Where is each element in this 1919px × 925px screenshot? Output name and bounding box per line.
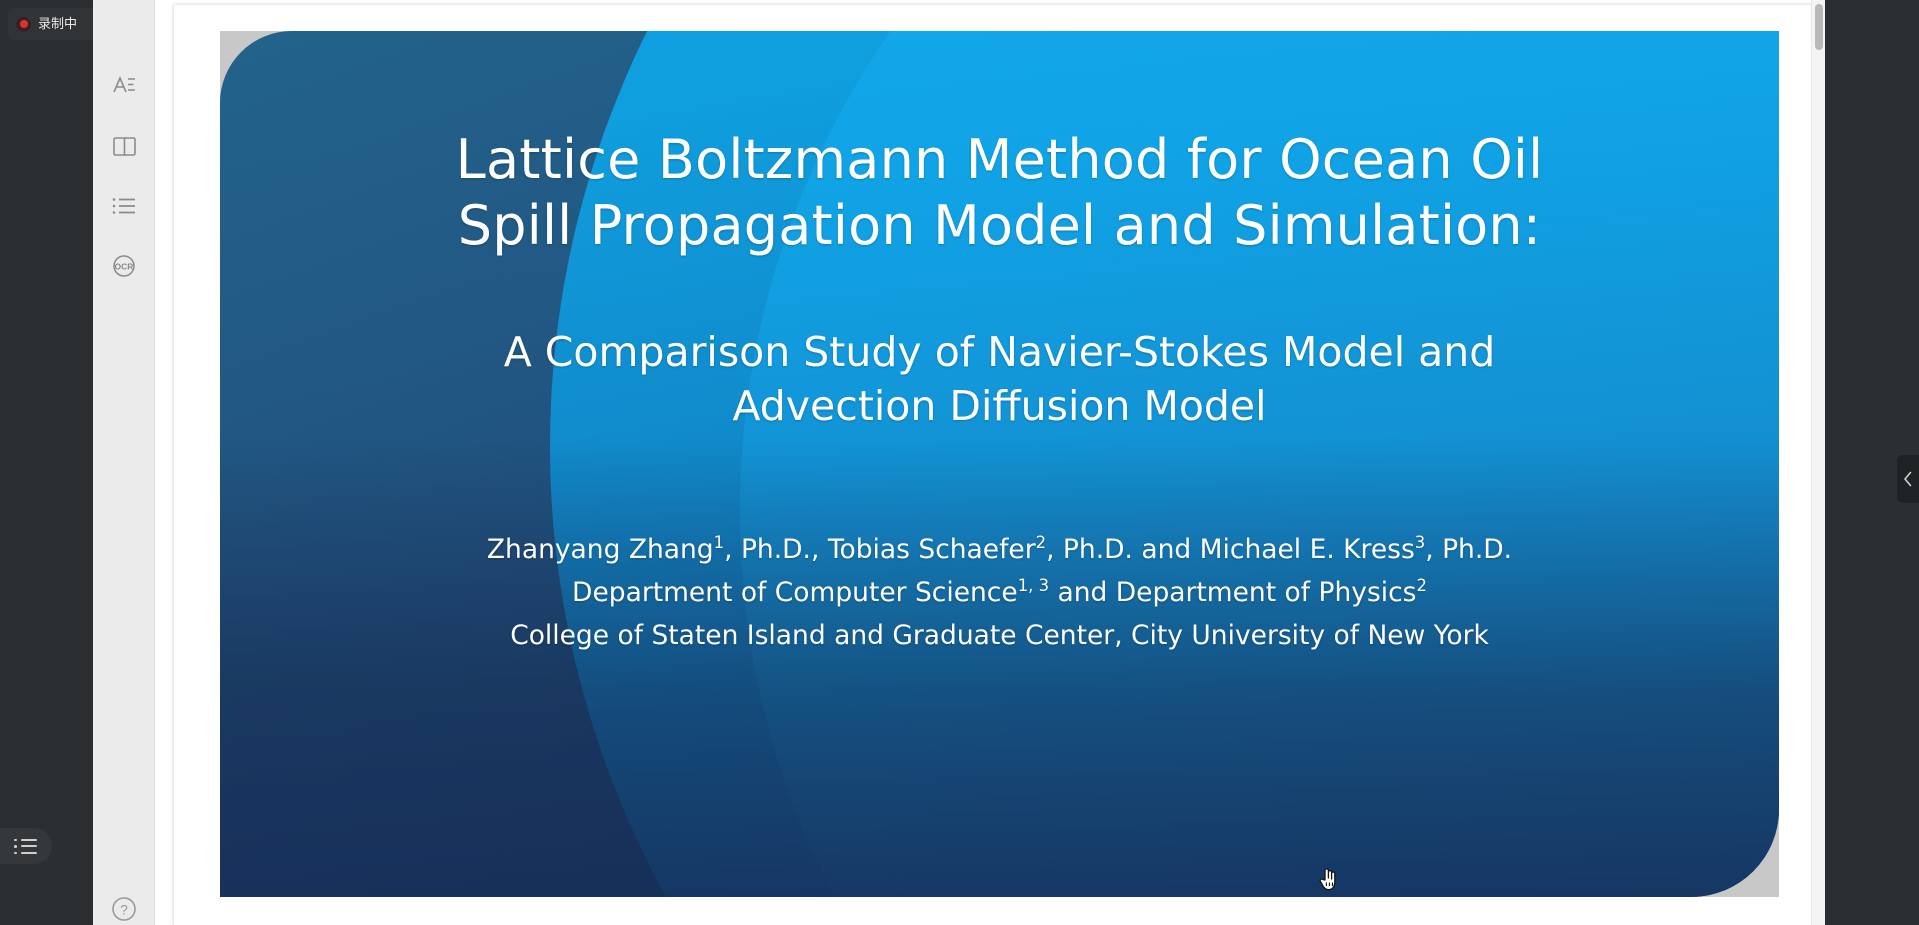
slide-text-block: Lattice Boltzmann Method for Ocean Oil S… <box>220 31 1779 897</box>
book-open-icon <box>113 136 136 157</box>
slide-subtitle: A Comparison Study of Navier-Stokes Mode… <box>410 325 1590 433</box>
slide-department-line: Department of Computer Science1, 3 and D… <box>290 572 1710 615</box>
slide-subtitle-line-2: Advection Diffusion Model <box>410 379 1590 433</box>
slide-title-line-1: Lattice Boltzmann Method for Ocean Oil <box>380 127 1620 193</box>
slide-author-line: Zhanyang Zhang1, Ph.D., Tobias Schaefer2… <box>290 529 1710 572</box>
bullet-list-icon <box>112 197 136 215</box>
slide-title: Lattice Boltzmann Method for Ocean Oil S… <box>380 127 1620 259</box>
help-button[interactable]: ? <box>109 894 139 924</box>
text-format-tool[interactable] <box>103 66 145 104</box>
outline-list-tool[interactable] <box>103 187 145 225</box>
outline-toggle-button[interactable] <box>0 828 52 864</box>
collapse-panel-button[interactable] <box>1897 455 1919 503</box>
help-circle-icon: ? <box>109 894 139 924</box>
two-page-view-tool[interactable] <box>103 127 145 165</box>
app-window: 录制中 <box>0 0 1919 925</box>
svg-text:?: ? <box>120 902 128 918</box>
slide-title-line-2: Spill Propagation Model and Simulation: <box>380 193 1620 259</box>
slide-background: Lattice Boltzmann Method for Ocean Oil S… <box>220 31 1779 897</box>
tool-strip: OCR ? <box>93 0 155 925</box>
left-rail: 录制中 <box>0 0 93 925</box>
svg-text:OCR: OCR <box>115 262 134 272</box>
slide-authors-block: Zhanyang Zhang1, Ph.D., Tobias Schaefer2… <box>290 529 1710 658</box>
vertical-scrollbar[interactable] <box>1811 0 1825 925</box>
slide-canvas: Lattice Boltzmann Method for Ocean Oil S… <box>220 31 1779 897</box>
ocr-tool[interactable]: OCR <box>103 247 145 285</box>
recording-status-label: 录制中 <box>38 18 77 31</box>
text-format-icon <box>112 74 136 96</box>
slide-subtitle-line-1: A Comparison Study of Navier-Stokes Mode… <box>410 325 1590 379</box>
ocr-icon: OCR <box>112 254 136 278</box>
recording-indicator: 录制中 <box>8 8 96 40</box>
chevron-left-icon <box>1903 471 1913 487</box>
scrollbar-thumb[interactable] <box>1815 4 1823 50</box>
record-dot-icon <box>16 17 31 32</box>
outline-list-icon <box>13 838 39 855</box>
slide-institution-line: College of Staten Island and Graduate Ce… <box>290 615 1710 658</box>
document-page: Lattice Boltzmann Method for Ocean Oil S… <box>174 5 1819 925</box>
document-viewport[interactable]: Lattice Boltzmann Method for Ocean Oil S… <box>156 0 1819 925</box>
